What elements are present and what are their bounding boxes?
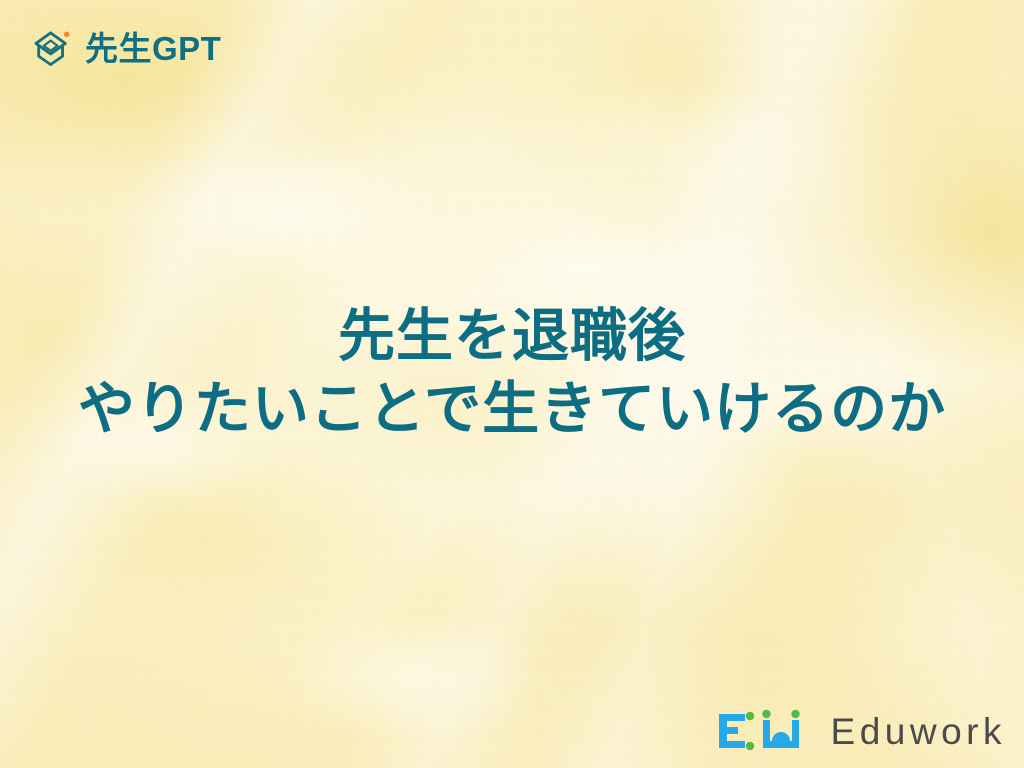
eduwork-logo[interactable]: Eduwork (717, 708, 1006, 754)
title-line-1: 先生を退職後 (0, 300, 1024, 373)
eduwork-wordmark: Eduwork (831, 713, 1006, 750)
slide-title: 先生を退職後 やりたいことで生きていけるのか (0, 300, 1024, 446)
eduwork-ew-monogram-icon (717, 708, 817, 754)
slide-canvas: 先生GPT 先生を退職後 やりたいことで生きていけるのか Eduwork (0, 0, 1024, 768)
brand-logo[interactable]: 先生GPT (30, 26, 221, 70)
brand-name: 先生GPT (85, 32, 221, 65)
title-line-2: やりたいことで生きていけるのか (0, 373, 1024, 446)
graduation-cap-cube-icon (30, 26, 74, 70)
